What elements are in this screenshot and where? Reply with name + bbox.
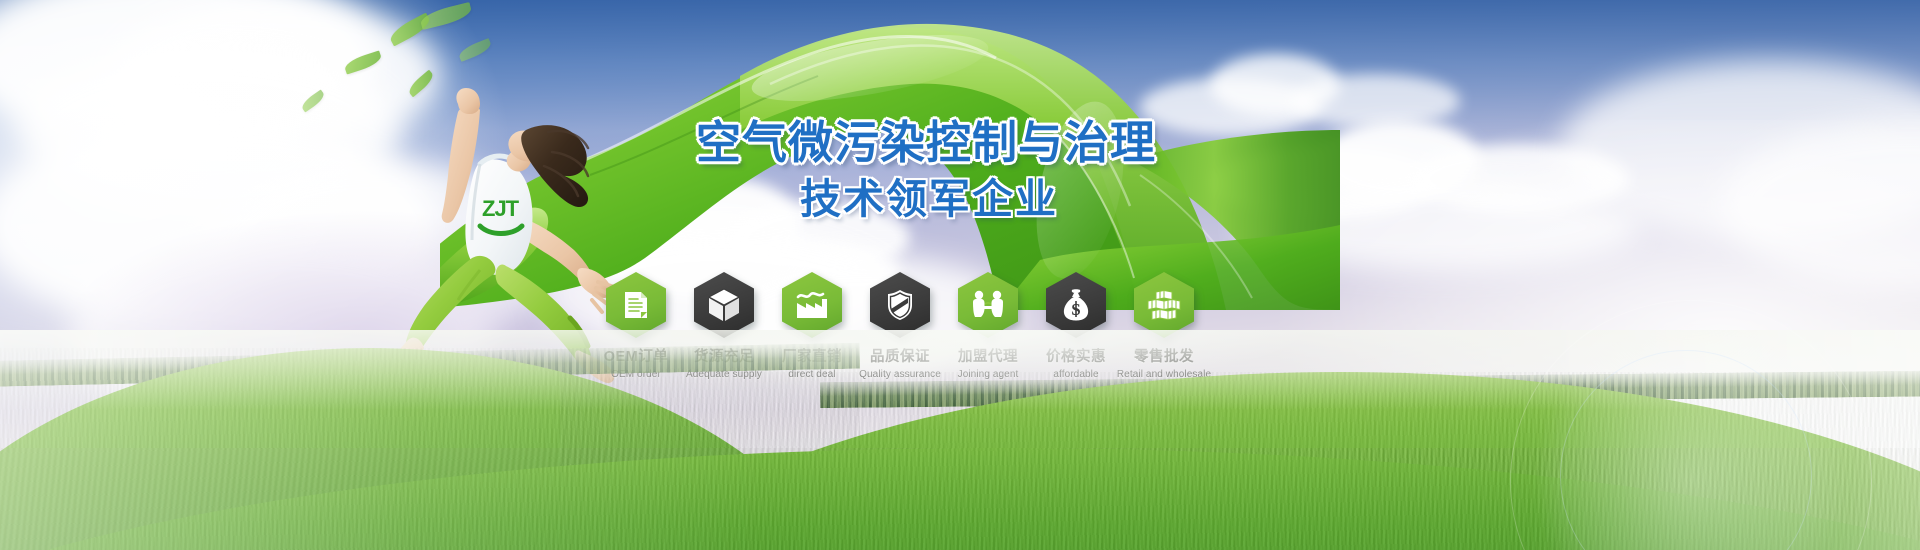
headline-block: 空气微污染控制与治理 技术领军企业 (696, 120, 1396, 220)
money-bag-icon: S (1062, 289, 1090, 321)
feature-icon-badge (694, 272, 754, 338)
factory-icon (796, 291, 828, 319)
cube-box-icon (708, 288, 740, 322)
headline-line-2: 技术领军企业 (800, 179, 1396, 220)
packages-icon (1147, 290, 1181, 320)
landscape-fade-left (0, 330, 760, 550)
feature-icon-badge (606, 272, 666, 338)
handshake-icon (970, 290, 1006, 320)
feature-icon-badge: S (1046, 272, 1106, 338)
svg-text:ZJT: ZJT (482, 196, 520, 221)
document-icon (622, 290, 650, 320)
headline-line-1: 空气微污染控制与治理 (696, 120, 1396, 165)
shield-icon (886, 289, 914, 321)
feature-icon-badge (958, 272, 1018, 338)
promo-banner: ZJT 空气微污染控制与治理 技术领军企业 (0, 0, 1920, 550)
feature-icon-badge (782, 272, 842, 338)
feature-icon-badge (1134, 272, 1194, 338)
feature-icon-badge (870, 272, 930, 338)
